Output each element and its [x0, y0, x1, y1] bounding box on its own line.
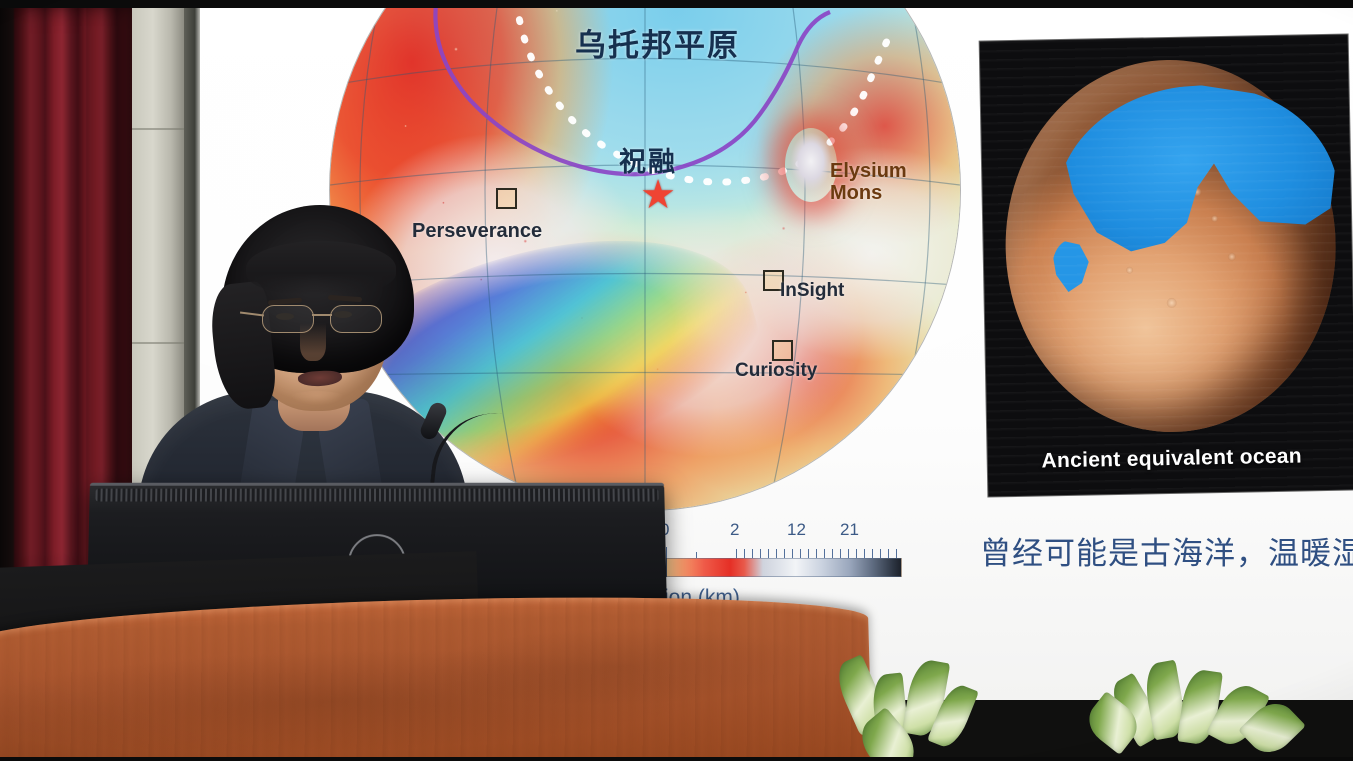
glasses-bridge	[312, 314, 332, 316]
glasses-lens-right	[330, 305, 382, 333]
label-curiosity: Curiosity	[735, 360, 817, 382]
curiosity-site-marker	[772, 340, 793, 361]
label-utopia-planitia: 乌托邦平原	[575, 20, 740, 65]
label-insight: InSight	[780, 280, 844, 302]
elysium-line-1: Elysium	[830, 160, 907, 182]
colorbar-tick-21: 21	[840, 520, 859, 540]
colorbar-tick-12: 12	[787, 520, 806, 540]
monitor-vent-grille	[95, 489, 658, 502]
speaker-chin	[282, 391, 352, 413]
perseverance-site-marker	[496, 188, 517, 209]
potted-plants	[830, 640, 1353, 761]
slide-chinese-caption: 曾经可能是古海洋，温暖湿	[980, 528, 1353, 573]
monitor-top-edge	[90, 483, 664, 486]
label-elysium-mons: Elysium Mons	[830, 160, 907, 205]
frame-edge-top	[0, 0, 1353, 8]
elysium-line-2: Mons	[830, 182, 882, 204]
speaker-nose	[300, 323, 326, 361]
speaker-hair-fringe	[246, 241, 396, 295]
frame-edge-bottom	[0, 757, 1353, 761]
colorbar-tick-2: 2	[730, 520, 739, 540]
screenshot-root: 中 院 ⼈ 舍 ⼉	[0, 0, 1353, 761]
zhurong-landing-star-marker: ★	[640, 178, 676, 214]
projector-scanlines	[980, 35, 1353, 497]
colorbar-gradient	[666, 558, 902, 577]
ancient-ocean-panel: Ancient equivalent ocean	[980, 35, 1353, 497]
